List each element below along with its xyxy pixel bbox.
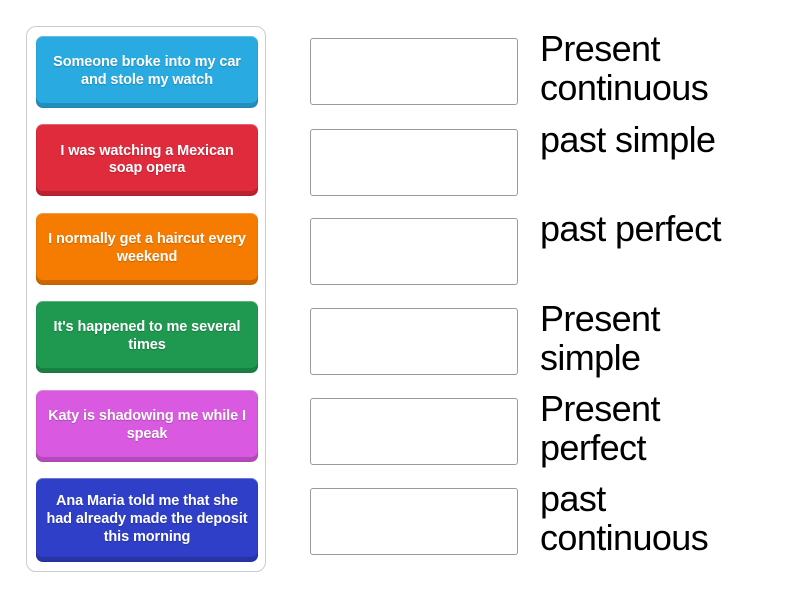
answer-row: past simple [310,129,780,207]
answer-label: Present perfect [540,390,780,467]
draggable-tile-label: It's happened to me several times [45,319,249,354]
answer-row: Present perfect [310,398,780,476]
draggable-tile-label: Katy is shadowing me while I speak [45,408,249,443]
answer-row: past continuous [310,488,780,566]
answer-label: Present simple [540,300,780,377]
match-up-activity: Someone broke into my car and stole my w… [0,0,800,600]
drop-zone[interactable] [310,488,518,555]
answer-label: Present continuous [540,30,780,107]
draggable-tile-label: Ana Maria told me that she had already m… [45,493,249,546]
draggable-tile-label: Someone broke into my car and stole my w… [45,54,249,89]
drop-zone[interactable] [310,129,518,196]
answer-label: past continuous [540,480,780,557]
draggable-tile-label: I normally get a haircut every weekend [45,231,249,266]
answer-label: past perfect [540,210,780,249]
draggable-tile[interactable]: Someone broke into my car and stole my w… [36,36,258,108]
answer-row: Present continuous [310,38,780,116]
draggable-tile[interactable]: It's happened to me several times [36,301,258,373]
drop-zone[interactable] [310,398,518,465]
draggable-tile[interactable]: I was watching a Mexican soap opera [36,124,258,196]
answer-row: past perfect [310,218,780,296]
drop-zone[interactable] [310,218,518,285]
answer-row: Present simple [310,308,780,386]
draggable-tile-label: I was watching a Mexican soap opera [45,143,249,178]
draggable-tile[interactable]: Katy is shadowing me while I speak [36,390,258,462]
draggable-tile[interactable]: I normally get a haircut every weekend [36,213,258,285]
drop-zone[interactable] [310,308,518,375]
answer-rows: Present continuous past simple past perf… [310,30,780,570]
drop-zone[interactable] [310,38,518,105]
draggable-tiles-panel: Someone broke into my car and stole my w… [26,26,266,572]
answer-label: past simple [540,121,780,160]
draggable-tile[interactable]: Ana Maria told me that she had already m… [36,478,258,562]
